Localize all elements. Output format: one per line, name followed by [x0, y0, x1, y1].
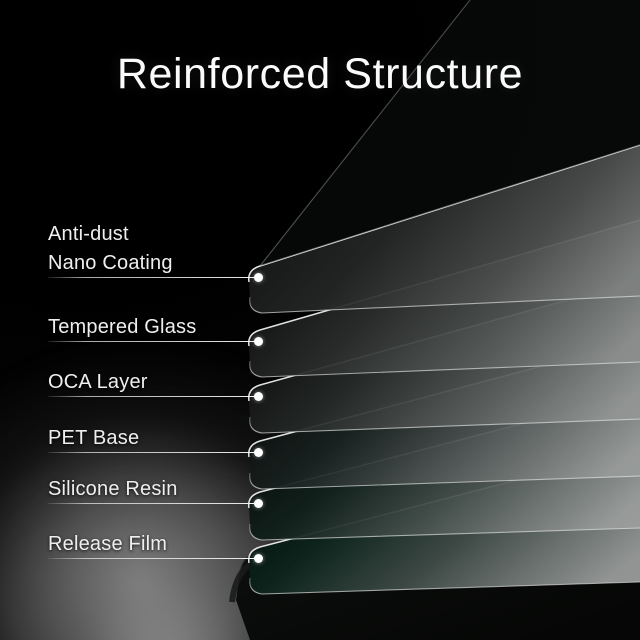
- product-infographic: Reinforced Structure Anti-dust Nano Coat…: [0, 0, 640, 640]
- layer-label-oca-layer: OCA Layer: [48, 368, 148, 397]
- page-title: Reinforced Structure: [0, 50, 640, 99]
- marker-dot-silicone-resin: [254, 499, 263, 508]
- layer-label-release-film: Release Film: [48, 530, 167, 559]
- marker-dot-pet-base: [254, 448, 263, 457]
- layer-label-pet-base: PET Base: [48, 424, 139, 453]
- marker-dot-release-film: [254, 554, 263, 563]
- marker-dot-nano-coating: [254, 273, 263, 282]
- marker-dot-oca-layer: [254, 392, 263, 401]
- marker-dot-tempered-glass: [254, 337, 263, 346]
- layer-label-silicone-resin: Silicone Resin: [48, 475, 178, 504]
- layer-label-nano-coating: Anti-dust Nano Coating: [48, 220, 173, 278]
- layer-label-tempered-glass: Tempered Glass: [48, 313, 196, 342]
